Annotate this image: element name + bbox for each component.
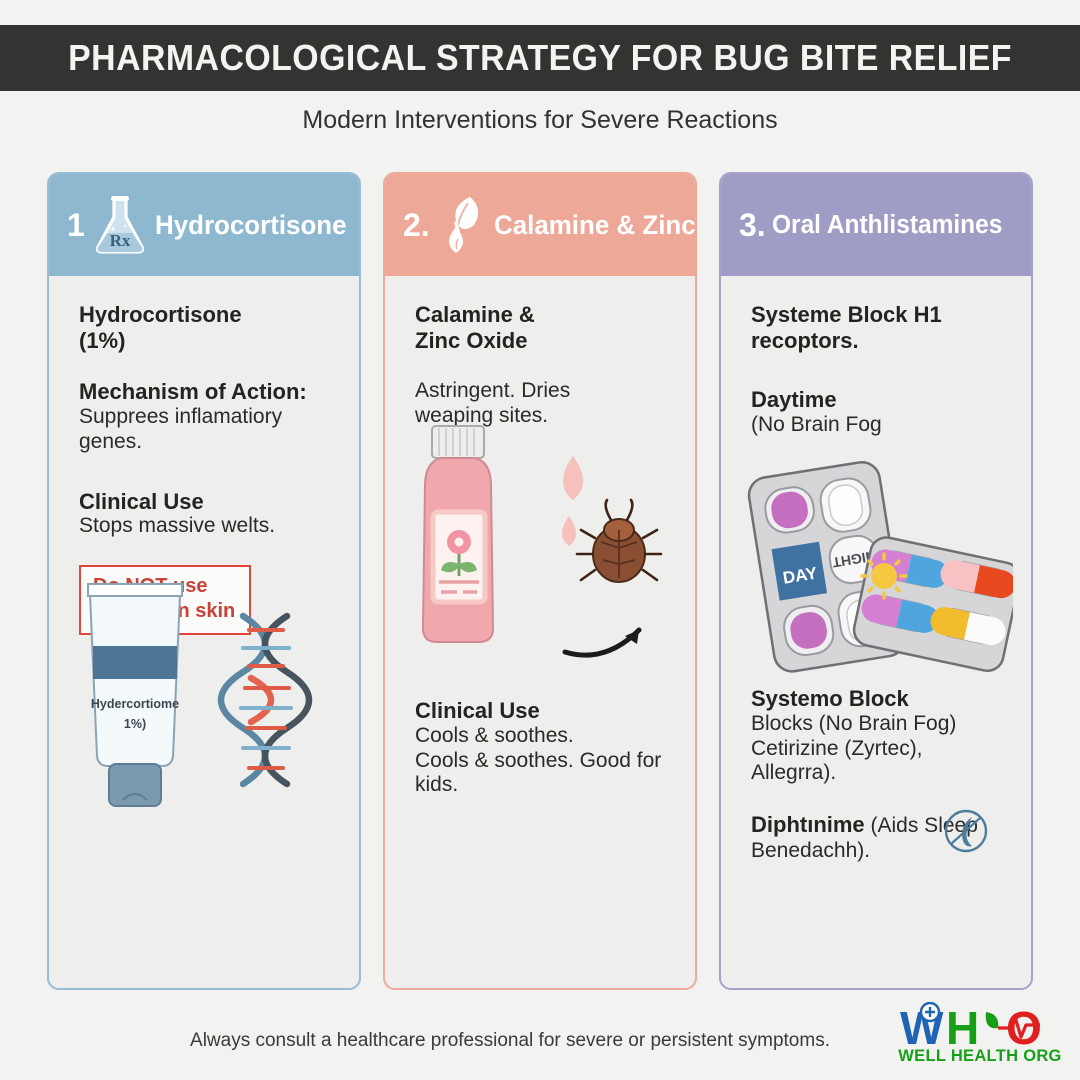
clinical-use-text: Stops massive welts. bbox=[79, 514, 335, 539]
card-header-hydrocortisone: 1 Rx Hydrocortisone bbox=[49, 174, 359, 276]
svg-text:Rx: Rx bbox=[109, 231, 130, 250]
cream-tube-illustration: Hydercortiome 1%) bbox=[57, 576, 347, 826]
intro-line2: recoptors. bbox=[751, 328, 1007, 354]
logo-well-health-org[interactable]: W H O WELL HEALTH ORG bbox=[894, 1002, 1066, 1074]
card-header-antihistamines: 3. Oral Anthlistamines bbox=[721, 174, 1031, 276]
card-number: 2. bbox=[403, 207, 430, 244]
clinical-use-block: Clinical Use Cools & soothes. Cools & so… bbox=[415, 698, 683, 798]
mechanism-heading: Mechanism of Action: bbox=[79, 379, 335, 405]
systemo-line2: Cetirizine (Zyrtec), bbox=[751, 737, 1017, 762]
page-subtitle: Modern Interventions for Severe Reaction… bbox=[0, 106, 1080, 135]
flask-rx-icon: Rx bbox=[91, 193, 149, 257]
systemo-line3: Allegrra). bbox=[751, 761, 1017, 786]
systemo-line1: Blocks (No Brain Fog) bbox=[751, 712, 1017, 737]
intro-line1: Systeme Block H1 bbox=[751, 302, 1007, 328]
diph-heading: Diphtınime bbox=[751, 812, 865, 837]
drug-name-line2: Zinc Oxide bbox=[415, 328, 671, 354]
drug-name-line1: Calamine & bbox=[415, 302, 671, 328]
drug-name-line1: Hydrocortisone bbox=[79, 302, 335, 328]
clinical-use-line1: Cools & soothes. bbox=[415, 724, 683, 749]
clinical-use-line3: kids. bbox=[415, 773, 683, 798]
card-oral-antihistamines[interactable]: 3. Oral Anthlistamines Systeme Block H1 … bbox=[719, 172, 1033, 990]
card-title: Calamine & Zinc bbox=[494, 210, 696, 241]
moon-icon bbox=[943, 808, 989, 854]
title-bar: PHARMACOLOGICAL STRATEGY FOR BUG BITE RE… bbox=[0, 25, 1080, 91]
systemo-heading: Systemo Block bbox=[751, 686, 1017, 712]
columns-container: 1 Rx Hydrocortisone Hydrocortisone (1%) … bbox=[47, 172, 1033, 990]
mechanism-line1: Supprees inflamatiory bbox=[79, 405, 335, 430]
card-header-calamine: 2. Calamine & Zinc bbox=[385, 174, 695, 276]
drug-name-line2: (1%) bbox=[79, 328, 335, 354]
card-number: 1 bbox=[67, 207, 85, 244]
lotion-droplets-illustration bbox=[562, 456, 583, 546]
calamine-bottle-illustration bbox=[389, 408, 681, 674]
tube-label-line2: 1%) bbox=[124, 717, 146, 731]
card-calamine-zinc[interactable]: 2. Calamine & Zinc Calamine & Zinc Oxide… bbox=[383, 172, 697, 990]
clinical-use-heading: Clinical Use bbox=[79, 489, 335, 515]
curved-arrow-illustration bbox=[565, 630, 639, 655]
clinical-use-heading: Clinical Use bbox=[415, 698, 683, 724]
sun-icon bbox=[862, 554, 906, 598]
page-title: PHARMACOLOGICAL STRATEGY FOR BUG BITE RE… bbox=[68, 37, 1012, 79]
card-hydrocortisone[interactable]: 1 Rx Hydrocortisone Hydrocortisone (1%) … bbox=[47, 172, 361, 990]
logo-letter-h: H bbox=[946, 1002, 979, 1050]
tube-label-line1: Hydercortiome bbox=[91, 697, 179, 711]
card-title: Oral Anthlistamines bbox=[772, 211, 1002, 240]
blister-pack-day-illustration: DAY NIGHT bbox=[721, 454, 1013, 684]
logo-wordmark: WELL HEALTH ORG bbox=[894, 1047, 1066, 1066]
daytime-heading: Daytime bbox=[751, 387, 1007, 413]
dna-helix-illustration bbox=[221, 616, 309, 784]
mechanism-line2: genes. bbox=[79, 430, 335, 455]
card-body-hydrocortisone: Hydrocortisone (1%) Mechanism of Action:… bbox=[49, 276, 359, 988]
card-body-calamine: Calamine & Zinc Oxide Astringent. Dries … bbox=[385, 276, 695, 988]
infographic-page: PHARMACOLOGICAL STRATEGY FOR BUG BITE RE… bbox=[0, 0, 1080, 1080]
clinical-use-line2: Cools & soothes. Good for bbox=[415, 749, 683, 774]
mechanism-line1: Astringent. Dries bbox=[415, 379, 671, 404]
leaf-droplet-icon bbox=[436, 193, 488, 257]
card-title: Hydrocortisone bbox=[155, 210, 347, 241]
who-logo-icon: W H O bbox=[894, 1002, 1066, 1050]
bug-illustration bbox=[577, 500, 661, 582]
daytime-text: (No Brain Fog bbox=[751, 413, 1007, 438]
card-number: 3. bbox=[739, 207, 766, 244]
card-body-antihistamines: Systeme Block H1 recoptors. Daytime (No … bbox=[721, 276, 1031, 988]
